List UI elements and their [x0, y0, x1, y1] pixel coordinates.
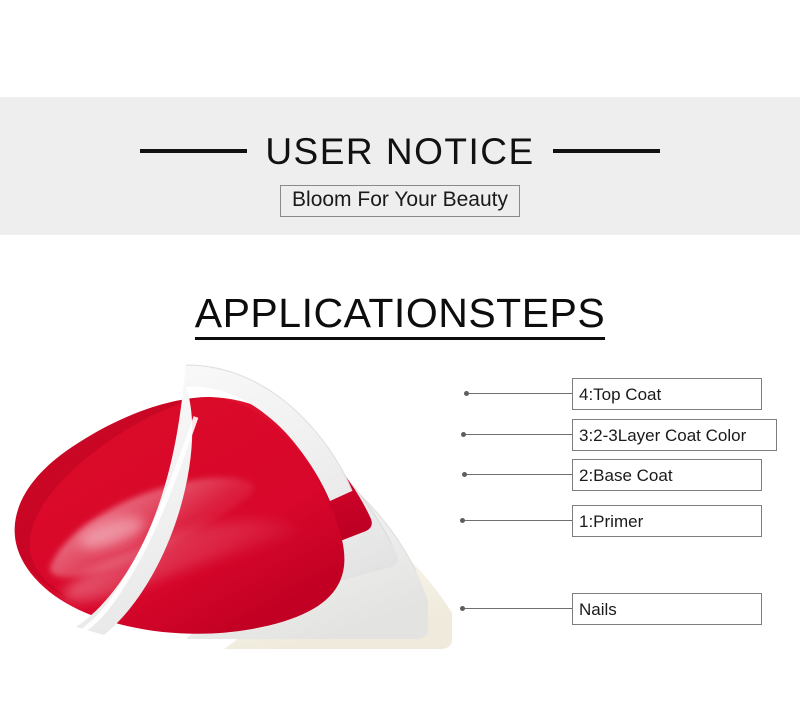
leader-dot-primer — [460, 518, 465, 523]
leader-dot-nails — [460, 606, 465, 611]
leader-line-primer — [462, 520, 572, 521]
callout-label-primer: 1:Primer — [579, 513, 643, 530]
callout-labels: 4:Top Coat 3:2-3Layer Coat Color 2:Base … — [0, 0, 800, 708]
leader-dot-color-coat — [461, 432, 466, 437]
leader-line-color-coat — [463, 434, 572, 435]
callout-label-top-coat: 4:Top Coat — [579, 386, 661, 403]
leader-line-nails — [462, 608, 572, 609]
callout-box-base-coat[interactable]: 2:Base Coat — [572, 459, 762, 491]
leader-dot-top-coat — [464, 391, 469, 396]
callout-box-primer[interactable]: 1:Primer — [572, 505, 762, 537]
leader-line-base-coat — [464, 474, 572, 475]
leader-dot-base-coat — [462, 472, 467, 477]
page-root: USER NOTICE Bloom For Your Beauty APPLIC… — [0, 0, 800, 708]
leader-line-top-coat — [466, 393, 572, 394]
callout-label-color-coat: 3:2-3Layer Coat Color — [579, 427, 746, 444]
callout-box-color-coat[interactable]: 3:2-3Layer Coat Color — [572, 419, 777, 451]
callout-box-top-coat[interactable]: 4:Top Coat — [572, 378, 762, 410]
callout-label-base-coat: 2:Base Coat — [579, 467, 673, 484]
callout-box-nails[interactable]: Nails — [572, 593, 762, 625]
callout-label-nails: Nails — [579, 601, 617, 618]
